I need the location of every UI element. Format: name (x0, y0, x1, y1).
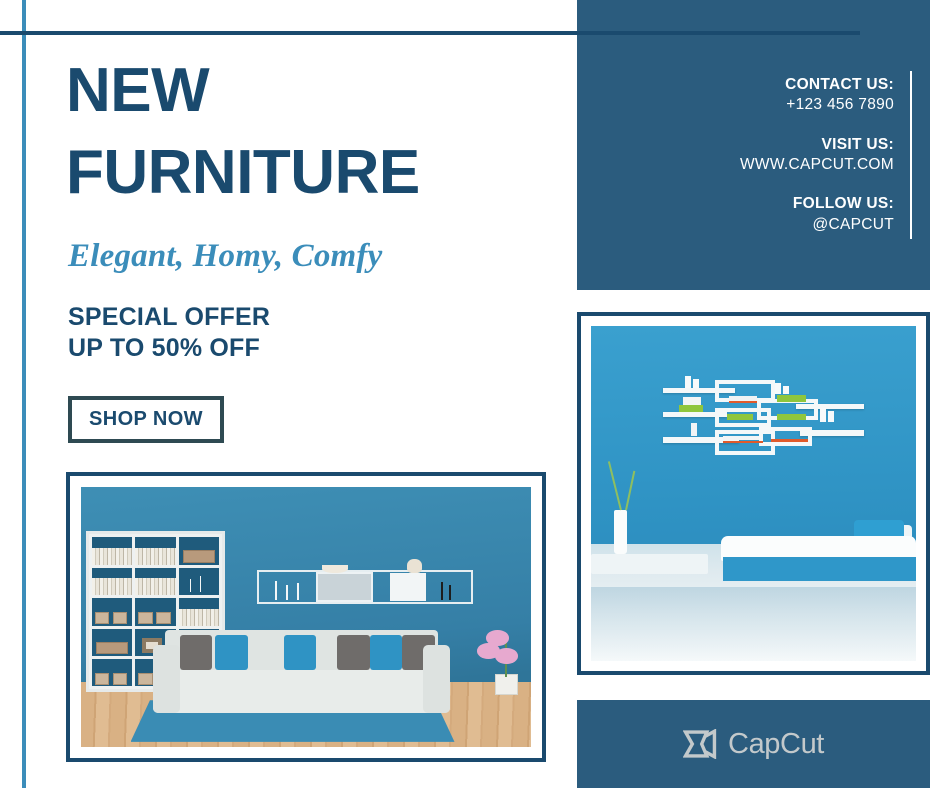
living-room-photo (81, 487, 531, 747)
offer-line-2: UP TO 50% OFF (68, 333, 270, 364)
navy-horizontal-line (0, 31, 860, 35)
daybed (721, 520, 916, 580)
main-photo-frame (66, 472, 546, 762)
vase (614, 510, 627, 554)
contact-details: CONTACT US: +123 456 7890 VISIT US: WWW.… (740, 75, 894, 236)
flower (486, 630, 509, 646)
floating-shelves (663, 373, 865, 460)
page-title: NEW FURNITURE (66, 62, 546, 201)
branch (625, 471, 635, 511)
plant-pot (495, 674, 518, 695)
flower (495, 648, 518, 664)
contact-panel: CONTACT US: +123 456 7890 VISIT US: WWW.… (577, 0, 930, 290)
contact-group-social: FOLLOW US: @CAPCUT (740, 194, 894, 235)
floor-reflection (591, 587, 916, 661)
low-table (591, 554, 708, 574)
contact-label-website: VISIT US: (740, 135, 894, 155)
headline-line-2: FURNITURE (66, 144, 546, 202)
contact-value-social[interactable]: @CAPCUT (740, 215, 894, 235)
accent-vertical-line (22, 0, 26, 788)
contact-label-social: FOLLOW US: (740, 194, 894, 214)
special-offer-block: SPECIAL OFFER UP TO 50% OFF (68, 302, 270, 364)
sofa (153, 630, 450, 713)
branch (608, 461, 622, 510)
wall-shelf (257, 570, 473, 604)
offer-line-1: SPECIAL OFFER (68, 302, 270, 333)
capcut-logo-icon (683, 729, 717, 759)
contact-group-website: VISIT US: WWW.CAPCUT.COM (740, 135, 894, 176)
tagline: Elegant, Homy, Comfy (68, 238, 382, 275)
capcut-branding: CapCut (577, 700, 930, 788)
contact-divider (910, 71, 912, 239)
side-photo-frame (577, 312, 930, 675)
contact-label-phone: CONTACT US: (740, 75, 894, 95)
bedroom-photo (591, 326, 916, 661)
contact-group-phone: CONTACT US: +123 456 7890 (740, 75, 894, 116)
headline-line-1: NEW (66, 62, 546, 120)
capcut-wordmark: CapCut (728, 728, 824, 761)
contact-value-phone[interactable]: +123 456 7890 (740, 95, 894, 115)
shop-now-button[interactable]: SHOP NOW (68, 396, 224, 443)
contact-value-website[interactable]: WWW.CAPCUT.COM (740, 155, 894, 175)
